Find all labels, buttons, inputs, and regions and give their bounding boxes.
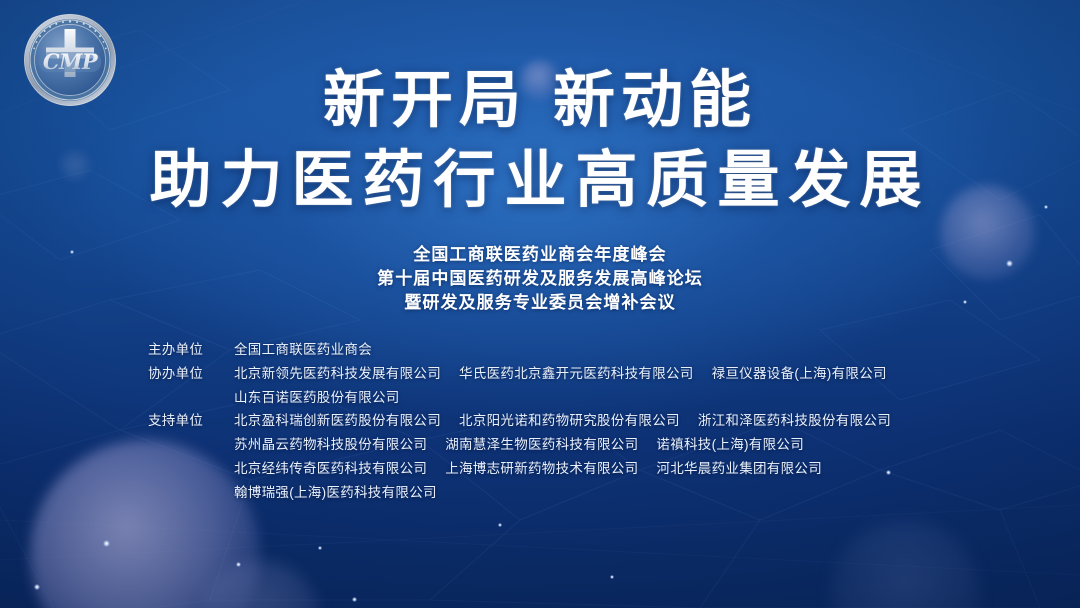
organization-name: 北京经纬传奇医药科技有限公司	[234, 457, 427, 481]
organization-name: 华氏医药北京鑫开元医药科技有限公司	[459, 362, 694, 386]
poster-headline: 新开局新动能 助力医药行业高质量发展	[0, 62, 1080, 220]
credit-org-list: 北京盈科瑞创新医药股份有限公司北京阳光诺和药物研究股份有限公司浙江和泽医药科技股…	[234, 409, 891, 433]
subtitle-line-1: 全国工商联医药业商会年度峰会	[0, 243, 1080, 267]
credit-org-list: 北京新领先医药科技发展有限公司华氏医药北京鑫开元医药科技有限公司禄亘仪器设备(上…	[234, 362, 887, 386]
credit-row-continued: 翰博瑞强(上海)医药科技有限公司	[148, 481, 891, 505]
organization-name: 湖南慧泽生物医药科技有限公司	[445, 433, 638, 457]
conference-poster: CMP 新开局新动能 助力医药行业高质量发展 全国工商联医药业商会年度峰会 第十…	[0, 0, 1080, 608]
credit-org-list: 全国工商联医药业商会	[234, 338, 372, 362]
organization-name: 河北华晨药业集团有限公司	[656, 457, 822, 481]
credit-row: 协办单位北京新领先医药科技发展有限公司华氏医药北京鑫开元医药科技有限公司禄亘仪器…	[148, 362, 891, 386]
credit-row-continued: 北京经纬传奇医药科技有限公司上海博志研新药物技术有限公司河北华晨药业集团有限公司	[148, 457, 891, 481]
organization-name: 浙江和泽医药科技股份有限公司	[698, 409, 891, 433]
headline-line-1-part-2: 新动能	[553, 63, 757, 136]
credit-label: 主办单位	[148, 338, 234, 362]
organization-name: 苏州晶云药物科技股份有限公司	[234, 433, 427, 457]
poster-subtitle: 全国工商联医药业商会年度峰会 第十届中国医药研发及服务发展高峰论坛 暨研发及服务…	[0, 243, 1080, 315]
credit-row-continued: 苏州晶云药物科技股份有限公司湖南慧泽生物医药科技有限公司诺禛科技(上海)有限公司	[148, 433, 891, 457]
subtitle-line-3: 暨研发及服务专业委员会增补会议	[0, 291, 1080, 315]
organization-name: 上海博志研新药物技术有限公司	[445, 457, 638, 481]
organization-name: 禄亘仪器设备(上海)有限公司	[712, 362, 887, 386]
credit-row: 支持单位北京盈科瑞创新医药股份有限公司北京阳光诺和药物研究股份有限公司浙江和泽医…	[148, 409, 891, 433]
organizer-credits: 主办单位全国工商联医药业商会协办单位北京新领先医药科技发展有限公司华氏医药北京鑫…	[148, 338, 891, 505]
headline-line-1-part-1: 新开局	[323, 63, 527, 136]
organization-name: 翰博瑞强(上海)医药科技有限公司	[234, 481, 437, 505]
organization-name: 北京新领先医药科技发展有限公司	[234, 362, 441, 386]
credit-label: 协办单位	[148, 362, 234, 386]
headline-line-1: 新开局新动能	[0, 62, 1080, 138]
headline-line-2: 助力医药行业高质量发展	[0, 140, 1080, 220]
credit-row: 主办单位全国工商联医药业商会	[148, 338, 891, 362]
organization-name: 北京盈科瑞创新医药股份有限公司	[234, 409, 441, 433]
organization-name: 全国工商联医药业商会	[234, 338, 372, 362]
organization-name: 北京阳光诺和药物研究股份有限公司	[459, 409, 680, 433]
credit-label: 支持单位	[148, 409, 234, 433]
credit-row-continued: 山东百诺医药股份有限公司	[148, 386, 891, 410]
subtitle-line-2: 第十届中国医药研发及服务发展高峰论坛	[0, 267, 1080, 291]
organization-name: 诺禛科技(上海)有限公司	[656, 433, 804, 457]
organization-name: 山东百诺医药股份有限公司	[234, 386, 400, 410]
